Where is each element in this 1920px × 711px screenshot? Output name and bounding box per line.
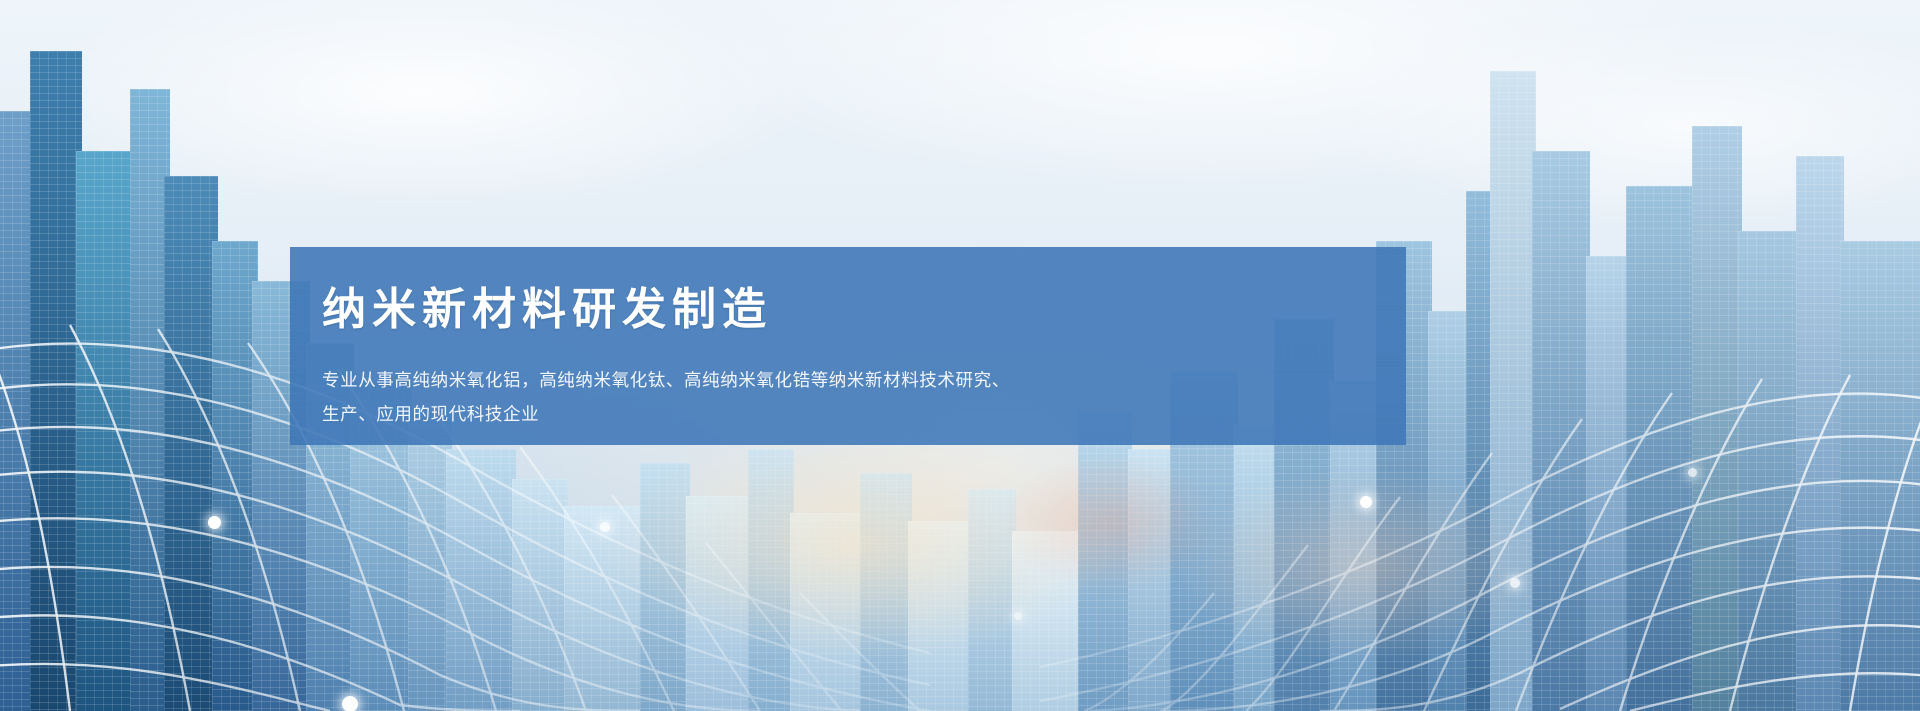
mesh-node <box>208 516 221 529</box>
mesh-node <box>342 696 358 711</box>
mesh-node <box>600 522 610 532</box>
page-title: 纳米新材料研发制造 <box>322 287 1406 333</box>
mesh-node <box>1688 468 1697 477</box>
mesh-node <box>1360 496 1372 508</box>
hero-description: 专业从事高纯纳米氧化铝，高纯纳米氧化钛、高纯纳米氧化锆等纳米新材料技术研究、 生… <box>322 363 1406 431</box>
mesh-node <box>1014 612 1022 620</box>
mesh-node <box>1510 578 1520 588</box>
hero-description-line: 生产、应用的现代科技企业 <box>322 397 1406 431</box>
hero-description-line: 专业从事高纯纳米氧化铝，高纯纳米氧化钛、高纯纳米氧化锆等纳米新材料技术研究、 <box>322 363 1406 397</box>
hero-banner: 纳米新材料研发制造 专业从事高纯纳米氧化铝，高纯纳米氧化钛、高纯纳米氧化锆等纳米… <box>0 0 1920 711</box>
hero-text-panel: 纳米新材料研发制造 专业从事高纯纳米氧化铝，高纯纳米氧化钛、高纯纳米氧化锆等纳米… <box>290 247 1406 445</box>
